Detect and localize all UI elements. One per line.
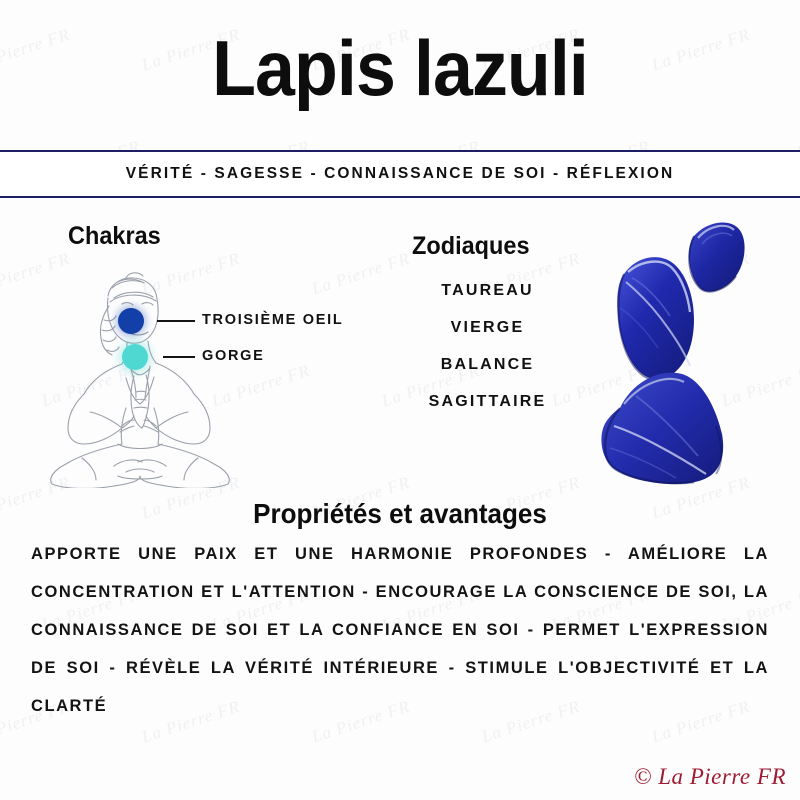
zodiaques-list: TAUREAU VIERGE BALANCE SAGITTAIRE xyxy=(380,272,595,420)
chakra-label-third-eye: TROISIÈME OEIL xyxy=(202,312,343,328)
signature: © La Pierre FR xyxy=(634,764,786,790)
stone-large xyxy=(601,373,723,484)
infographic-page: La Pierre FRLa Pierre FRLa Pierre FRLa P… xyxy=(0,0,800,800)
keywords-band: VÉRITÉ - SAGESSE - CONNAISSANCE DE SOI -… xyxy=(0,150,800,198)
zodiaques-heading: Zodiaques xyxy=(412,232,530,261)
chakra-label-throat: GORGE xyxy=(202,348,264,364)
chakra-dot-third-eye xyxy=(118,308,144,334)
stone-medium xyxy=(617,257,694,380)
stone-small xyxy=(689,222,745,291)
properties-text: APPORTE UNE PAIX ET UNE HARMONIE PROFOND… xyxy=(31,535,769,725)
zodiac-item: BALANCE xyxy=(380,346,595,383)
leader-line-third-eye xyxy=(157,320,195,322)
lapis-stones-image xyxy=(576,212,800,502)
leader-line-throat xyxy=(163,356,195,358)
page-title: Lapis lazuli xyxy=(32,26,768,110)
chakras-heading: Chakras xyxy=(68,222,161,251)
zodiac-item: VIERGE xyxy=(380,309,595,346)
zodiac-item: SAGITTAIRE xyxy=(380,383,595,420)
meditating-figure-icon xyxy=(30,258,390,488)
chakra-diagram: TROISIÈME OEIL GORGE xyxy=(30,258,390,488)
zodiac-item: TAUREAU xyxy=(380,272,595,309)
properties-heading: Propriétés et avantages xyxy=(28,498,772,530)
keywords-text: VÉRITÉ - SAGESSE - CONNAISSANCE DE SOI -… xyxy=(126,165,675,183)
chakra-dot-throat xyxy=(122,344,148,370)
